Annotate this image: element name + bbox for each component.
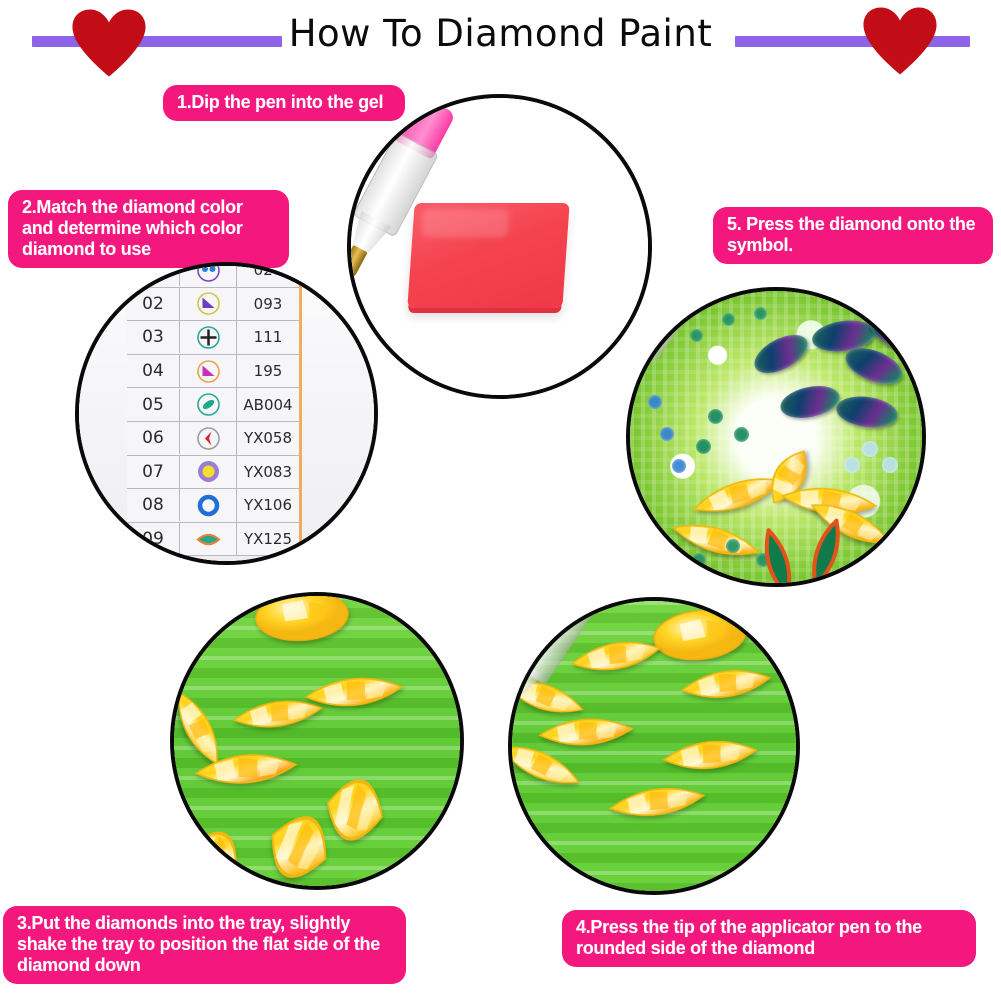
table-row: 06YX058 bbox=[127, 422, 299, 456]
printed-symbol-dot bbox=[844, 457, 860, 473]
step-4-photo bbox=[508, 597, 800, 895]
chart-row-code: 195 bbox=[237, 355, 299, 387]
placing-diamond-on-canvas-photo bbox=[630, 291, 922, 583]
step-1-photo bbox=[347, 94, 652, 399]
chart-row-number: 06 bbox=[127, 422, 180, 454]
printed-symbol-dot bbox=[672, 459, 686, 473]
table-row: 04195 bbox=[127, 355, 299, 389]
printed-symbol-dot bbox=[696, 439, 711, 454]
ring-icon bbox=[180, 489, 237, 522]
step-4-label: 4.Press the tip of the applicator pen to… bbox=[562, 910, 976, 967]
infographic-canvas: How To Diamond Paint 1.Dip the pen into … bbox=[0, 0, 1001, 1001]
triangle-icon bbox=[180, 355, 237, 388]
step-3-label: 3.Put the diamonds into the tray, slight… bbox=[3, 906, 406, 984]
chart-row-number: 02 bbox=[127, 288, 180, 320]
diamond-drill bbox=[192, 740, 300, 799]
printed-symbol-dot bbox=[862, 441, 878, 457]
chart-row-code: AB004 bbox=[237, 389, 299, 421]
chart-row-number: 01 bbox=[127, 262, 180, 286]
triangle-icon bbox=[180, 288, 237, 321]
table-row: 08YX106 bbox=[127, 489, 299, 523]
color-code-table: 0102802093031110419505AB00406YX05807YX08… bbox=[127, 262, 299, 556]
ellipse-icon bbox=[180, 388, 237, 421]
chart-row-code: YX106 bbox=[237, 489, 299, 521]
diamond-drill bbox=[650, 604, 751, 666]
step-5-photo bbox=[626, 287, 926, 587]
filled-circle-icon bbox=[180, 456, 237, 489]
chart-row-code: YX125 bbox=[237, 523, 299, 555]
chart-row-number: 08 bbox=[127, 489, 180, 521]
chart-row-code: YX058 bbox=[237, 422, 299, 454]
printed-symbol-dot bbox=[882, 457, 898, 473]
chart-row-number: 03 bbox=[127, 321, 180, 353]
step-5-label: 5. Press the diamond onto the symbol. bbox=[713, 207, 993, 264]
table-row: 02093 bbox=[127, 288, 299, 322]
chevron-left-icon bbox=[180, 422, 237, 455]
diamonds-in-green-tray-photo bbox=[174, 596, 460, 886]
table-row: 05AB004 bbox=[127, 388, 299, 422]
printed-symbol-dot bbox=[726, 539, 740, 553]
printed-symbol-dot bbox=[692, 553, 706, 567]
chart-row-code: 028 bbox=[237, 262, 299, 286]
chart-row-number: 07 bbox=[127, 456, 180, 488]
chart-row-number: 09 bbox=[127, 523, 180, 555]
printed-symbol-dot bbox=[754, 307, 767, 320]
table-row: 01028 bbox=[127, 262, 299, 288]
pen-dipping-into-gel-photo bbox=[351, 98, 648, 395]
table-row: 03111 bbox=[127, 321, 299, 355]
color-chart-table-photo: 0102802093031110419505AB00406YX05807YX08… bbox=[79, 266, 374, 561]
page-title: How To Diamond Paint bbox=[0, 12, 1001, 55]
header: How To Diamond Paint bbox=[0, 0, 1001, 80]
chart-row-code: 093 bbox=[237, 288, 299, 320]
diamond-drill bbox=[252, 592, 351, 645]
table-row: 07YX083 bbox=[127, 456, 299, 490]
table-row: 09YX125 bbox=[127, 523, 299, 557]
double-dot-icon bbox=[180, 262, 237, 287]
leaf-icon bbox=[180, 523, 237, 556]
chart-row-code: YX083 bbox=[237, 456, 299, 488]
printed-symbol-dot bbox=[708, 409, 723, 424]
step-2-photo: 0102802093031110419505AB00406YX05807YX08… bbox=[75, 262, 378, 565]
pen-picking-up-diamond-photo bbox=[512, 601, 796, 891]
chart-row-number: 04 bbox=[127, 355, 180, 387]
step-2-label: 2.Match the diamond color and determine … bbox=[8, 190, 289, 268]
chart-row-code: 111 bbox=[237, 321, 299, 353]
step-3-photo bbox=[170, 592, 464, 890]
paper-margin-line bbox=[299, 262, 302, 565]
printed-symbol-dot bbox=[734, 427, 749, 442]
plus-icon bbox=[180, 321, 237, 354]
chart-row-number: 05 bbox=[127, 389, 180, 421]
